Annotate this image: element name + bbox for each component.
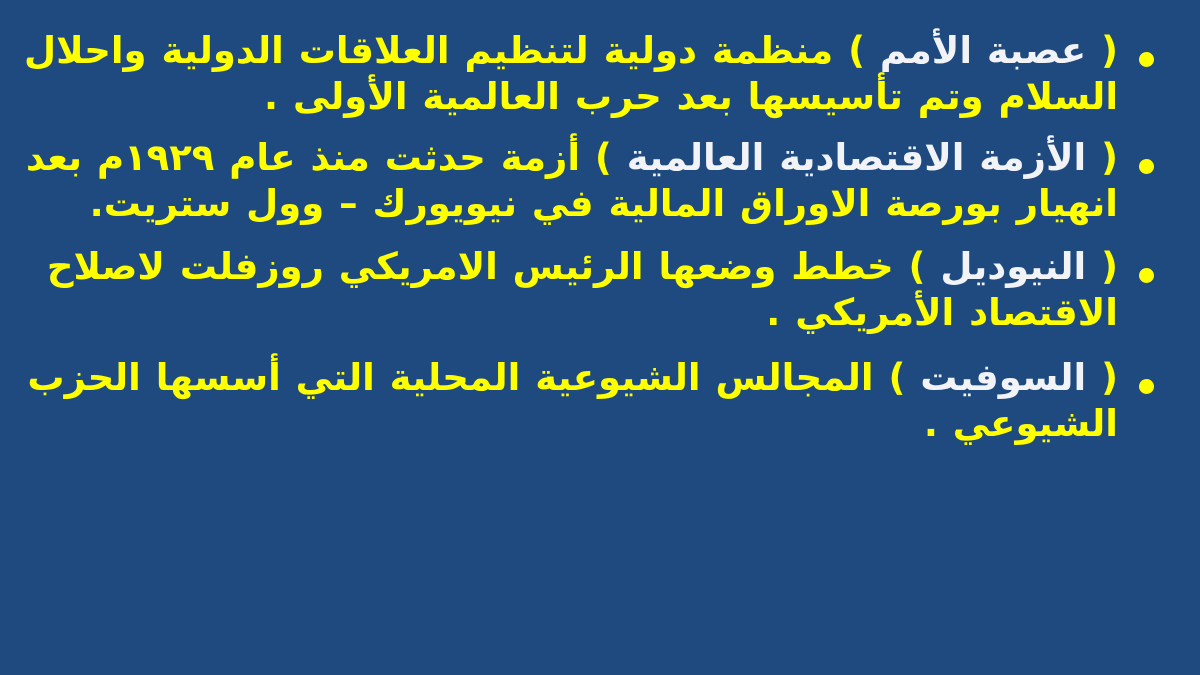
open-paren: ( — [1086, 356, 1118, 399]
list-item: ( النيوديل ) خطط وضعها الرئيس الامريكي ر… — [18, 244, 1164, 335]
round-bullet-icon — [1139, 52, 1154, 67]
round-bullet-icon — [1139, 159, 1154, 174]
bullet-text: ( السوفيت ) المجالس الشيوعية المحلية الت… — [22, 355, 1118, 446]
definition-bullet-list: ( عصبة الأمم ) منظمة دولية لتنظيم العلاق… — [18, 28, 1164, 446]
close-paren: ) — [909, 245, 941, 288]
list-item: ( عصبة الأمم ) منظمة دولية لتنظيم العلاق… — [18, 28, 1164, 119]
open-paren: ( — [1086, 29, 1118, 72]
term-label: عصبة الأمم — [880, 29, 1086, 72]
close-paren: ) — [595, 136, 627, 179]
bullet-text: ( النيوديل ) خطط وضعها الرئيس الامريكي ر… — [22, 244, 1118, 335]
bullet-text: ( الأزمة الاقتصادية العالمية ) أزمة حدثت… — [22, 135, 1118, 226]
term-label: النيوديل — [940, 245, 1086, 288]
open-paren: ( — [1086, 136, 1118, 179]
term-label: الأزمة الاقتصادية العالمية — [627, 136, 1086, 179]
close-paren: ) — [888, 356, 920, 399]
open-paren: ( — [1086, 245, 1118, 288]
slide-canvas: ( عصبة الأمم ) منظمة دولية لتنظيم العلاق… — [0, 0, 1200, 675]
list-item: ( السوفيت ) المجالس الشيوعية المحلية الت… — [18, 355, 1164, 446]
close-paren: ) — [848, 29, 880, 72]
list-item: ( الأزمة الاقتصادية العالمية ) أزمة حدثت… — [18, 135, 1164, 226]
round-bullet-icon — [1139, 268, 1154, 283]
bullet-text: ( عصبة الأمم ) منظمة دولية لتنظيم العلاق… — [22, 28, 1118, 119]
round-bullet-icon — [1139, 379, 1154, 394]
term-label: السوفيت — [920, 356, 1086, 399]
